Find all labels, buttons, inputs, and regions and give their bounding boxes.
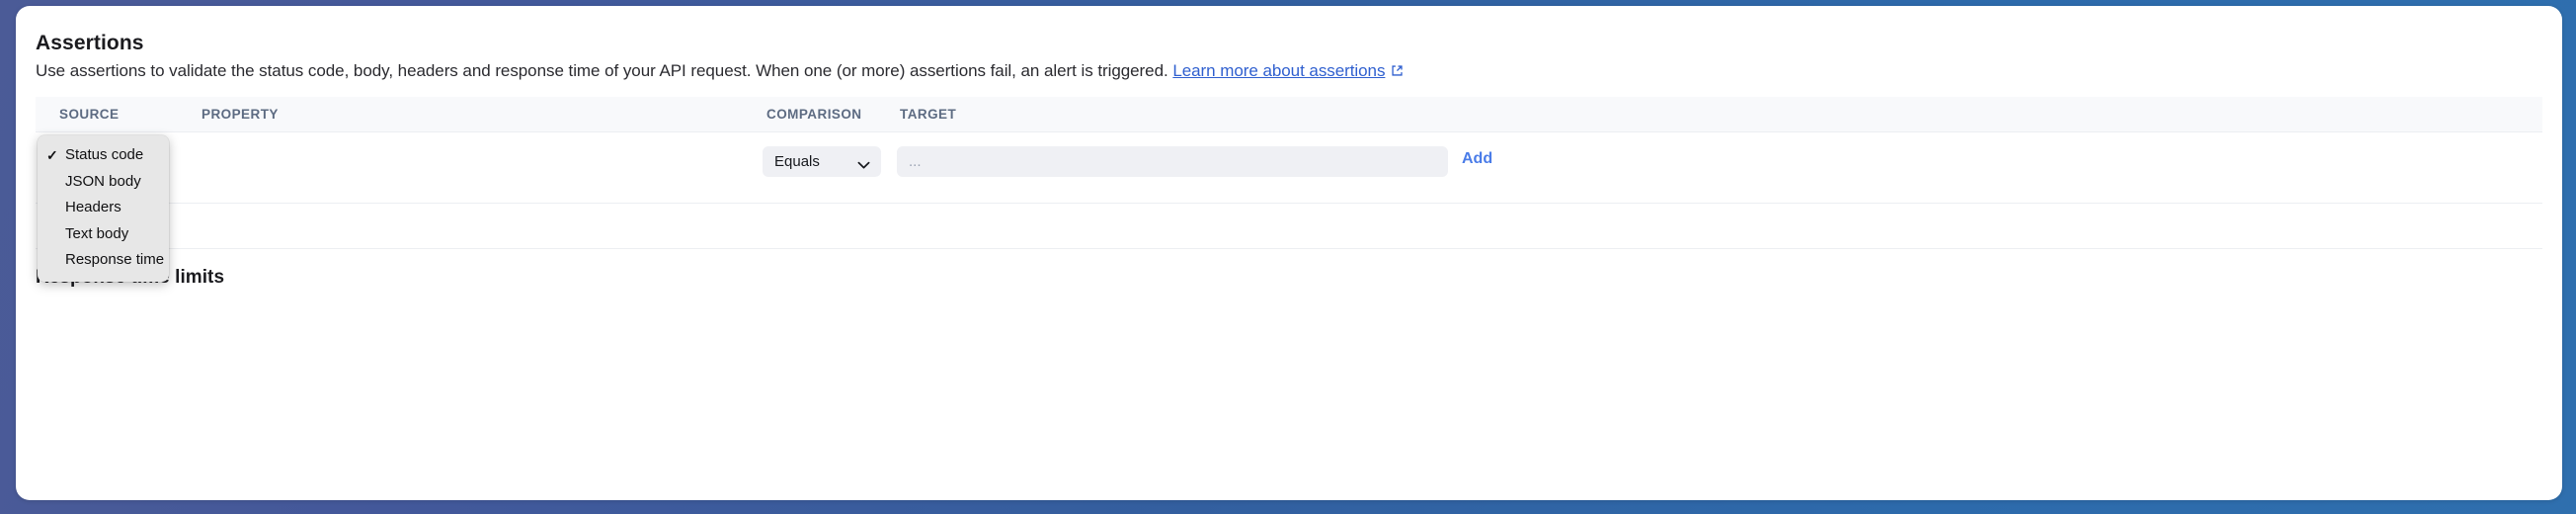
menu-item-text-body[interactable]: Text body bbox=[38, 221, 169, 248]
checkmark-icon: ✓ bbox=[46, 142, 58, 169]
chevron-down-icon bbox=[857, 157, 870, 175]
menu-item-label: JSON body bbox=[65, 173, 141, 190]
row-divider bbox=[36, 203, 2542, 204]
menu-item-json-body[interactable]: JSON body bbox=[38, 169, 169, 196]
comparison-select-value: Equals bbox=[774, 153, 820, 170]
column-header-target: TARGET bbox=[900, 107, 956, 122]
column-header-source: SOURCE bbox=[59, 107, 119, 122]
column-header-property: PROPERTY bbox=[201, 107, 279, 122]
menu-item-status-code[interactable]: ✓ Status code bbox=[38, 142, 169, 169]
page-title: Assertions bbox=[36, 32, 144, 55]
assertions-description-text: Use assertions to validate the status co… bbox=[36, 61, 1168, 80]
comparison-select[interactable]: Equals bbox=[763, 146, 881, 177]
menu-item-label: Response time bbox=[65, 251, 164, 268]
external-link-icon[interactable] bbox=[1391, 62, 1404, 82]
source-dropdown-menu[interactable]: ✓ Status code JSON body Headers Text bod… bbox=[38, 135, 169, 282]
target-input[interactable] bbox=[897, 146, 1448, 177]
learn-more-about-assertions-link[interactable]: Learn more about assertions bbox=[1172, 61, 1385, 80]
menu-item-headers[interactable]: Headers bbox=[38, 195, 169, 221]
column-header-comparison: COMPARISON bbox=[766, 107, 862, 122]
menu-item-response-time[interactable]: Response time bbox=[38, 247, 169, 274]
assertions-card: Assertions Use assertions to validate th… bbox=[16, 6, 2562, 500]
menu-item-label: Status code bbox=[65, 146, 143, 163]
menu-item-label: Headers bbox=[65, 199, 121, 215]
assertion-row: Equals Add bbox=[36, 131, 2542, 203]
assertions-description: Use assertions to validate the status co… bbox=[36, 61, 1404, 82]
add-assertion-button[interactable]: Add bbox=[1462, 150, 1492, 168]
menu-item-label: Text body bbox=[65, 225, 128, 242]
row-divider bbox=[36, 248, 2542, 249]
assertions-table-header: SOURCE PROPERTY COMPARISON TARGET bbox=[36, 97, 2542, 132]
